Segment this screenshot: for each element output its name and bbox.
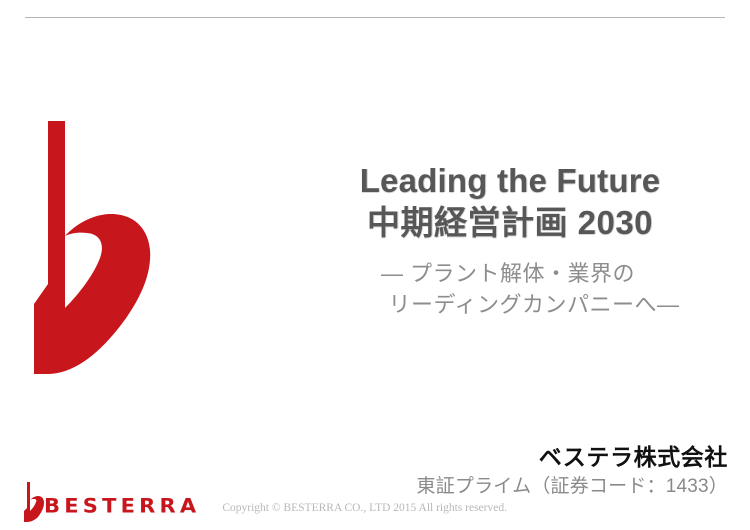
footer-copyright: Copyright © BESTERRA CO., LTD 2015 All r… (222, 502, 507, 514)
besterra-b-mark-small-icon (22, 480, 46, 522)
slide-subtitle: — プラント解体・業界の リーディングカンパニーへ— (296, 258, 720, 320)
subtitle-line-1: — プラント解体・業界の (296, 258, 720, 289)
slide-footer: BESTERRA Copyright © BESTERRA CO., LTD 2… (22, 480, 507, 522)
subtitle-line-2: リーディングカンパニーへ— (296, 289, 720, 320)
presentation-slide: Leading the Future 中期経営計画 2030 — プラント解体・… (0, 0, 750, 530)
header-divider (25, 17, 725, 18)
besterra-b-mark-icon (14, 108, 184, 378)
footer-wordmark: BESTERRA (44, 497, 200, 516)
slide-title: Leading the Future 中期経営計画 2030 (300, 160, 720, 244)
title-line-2: 中期経営計画 2030 (300, 202, 720, 244)
company-name: ベステラ株式会社 (417, 443, 729, 472)
title-line-1: Leading the Future (300, 160, 720, 202)
